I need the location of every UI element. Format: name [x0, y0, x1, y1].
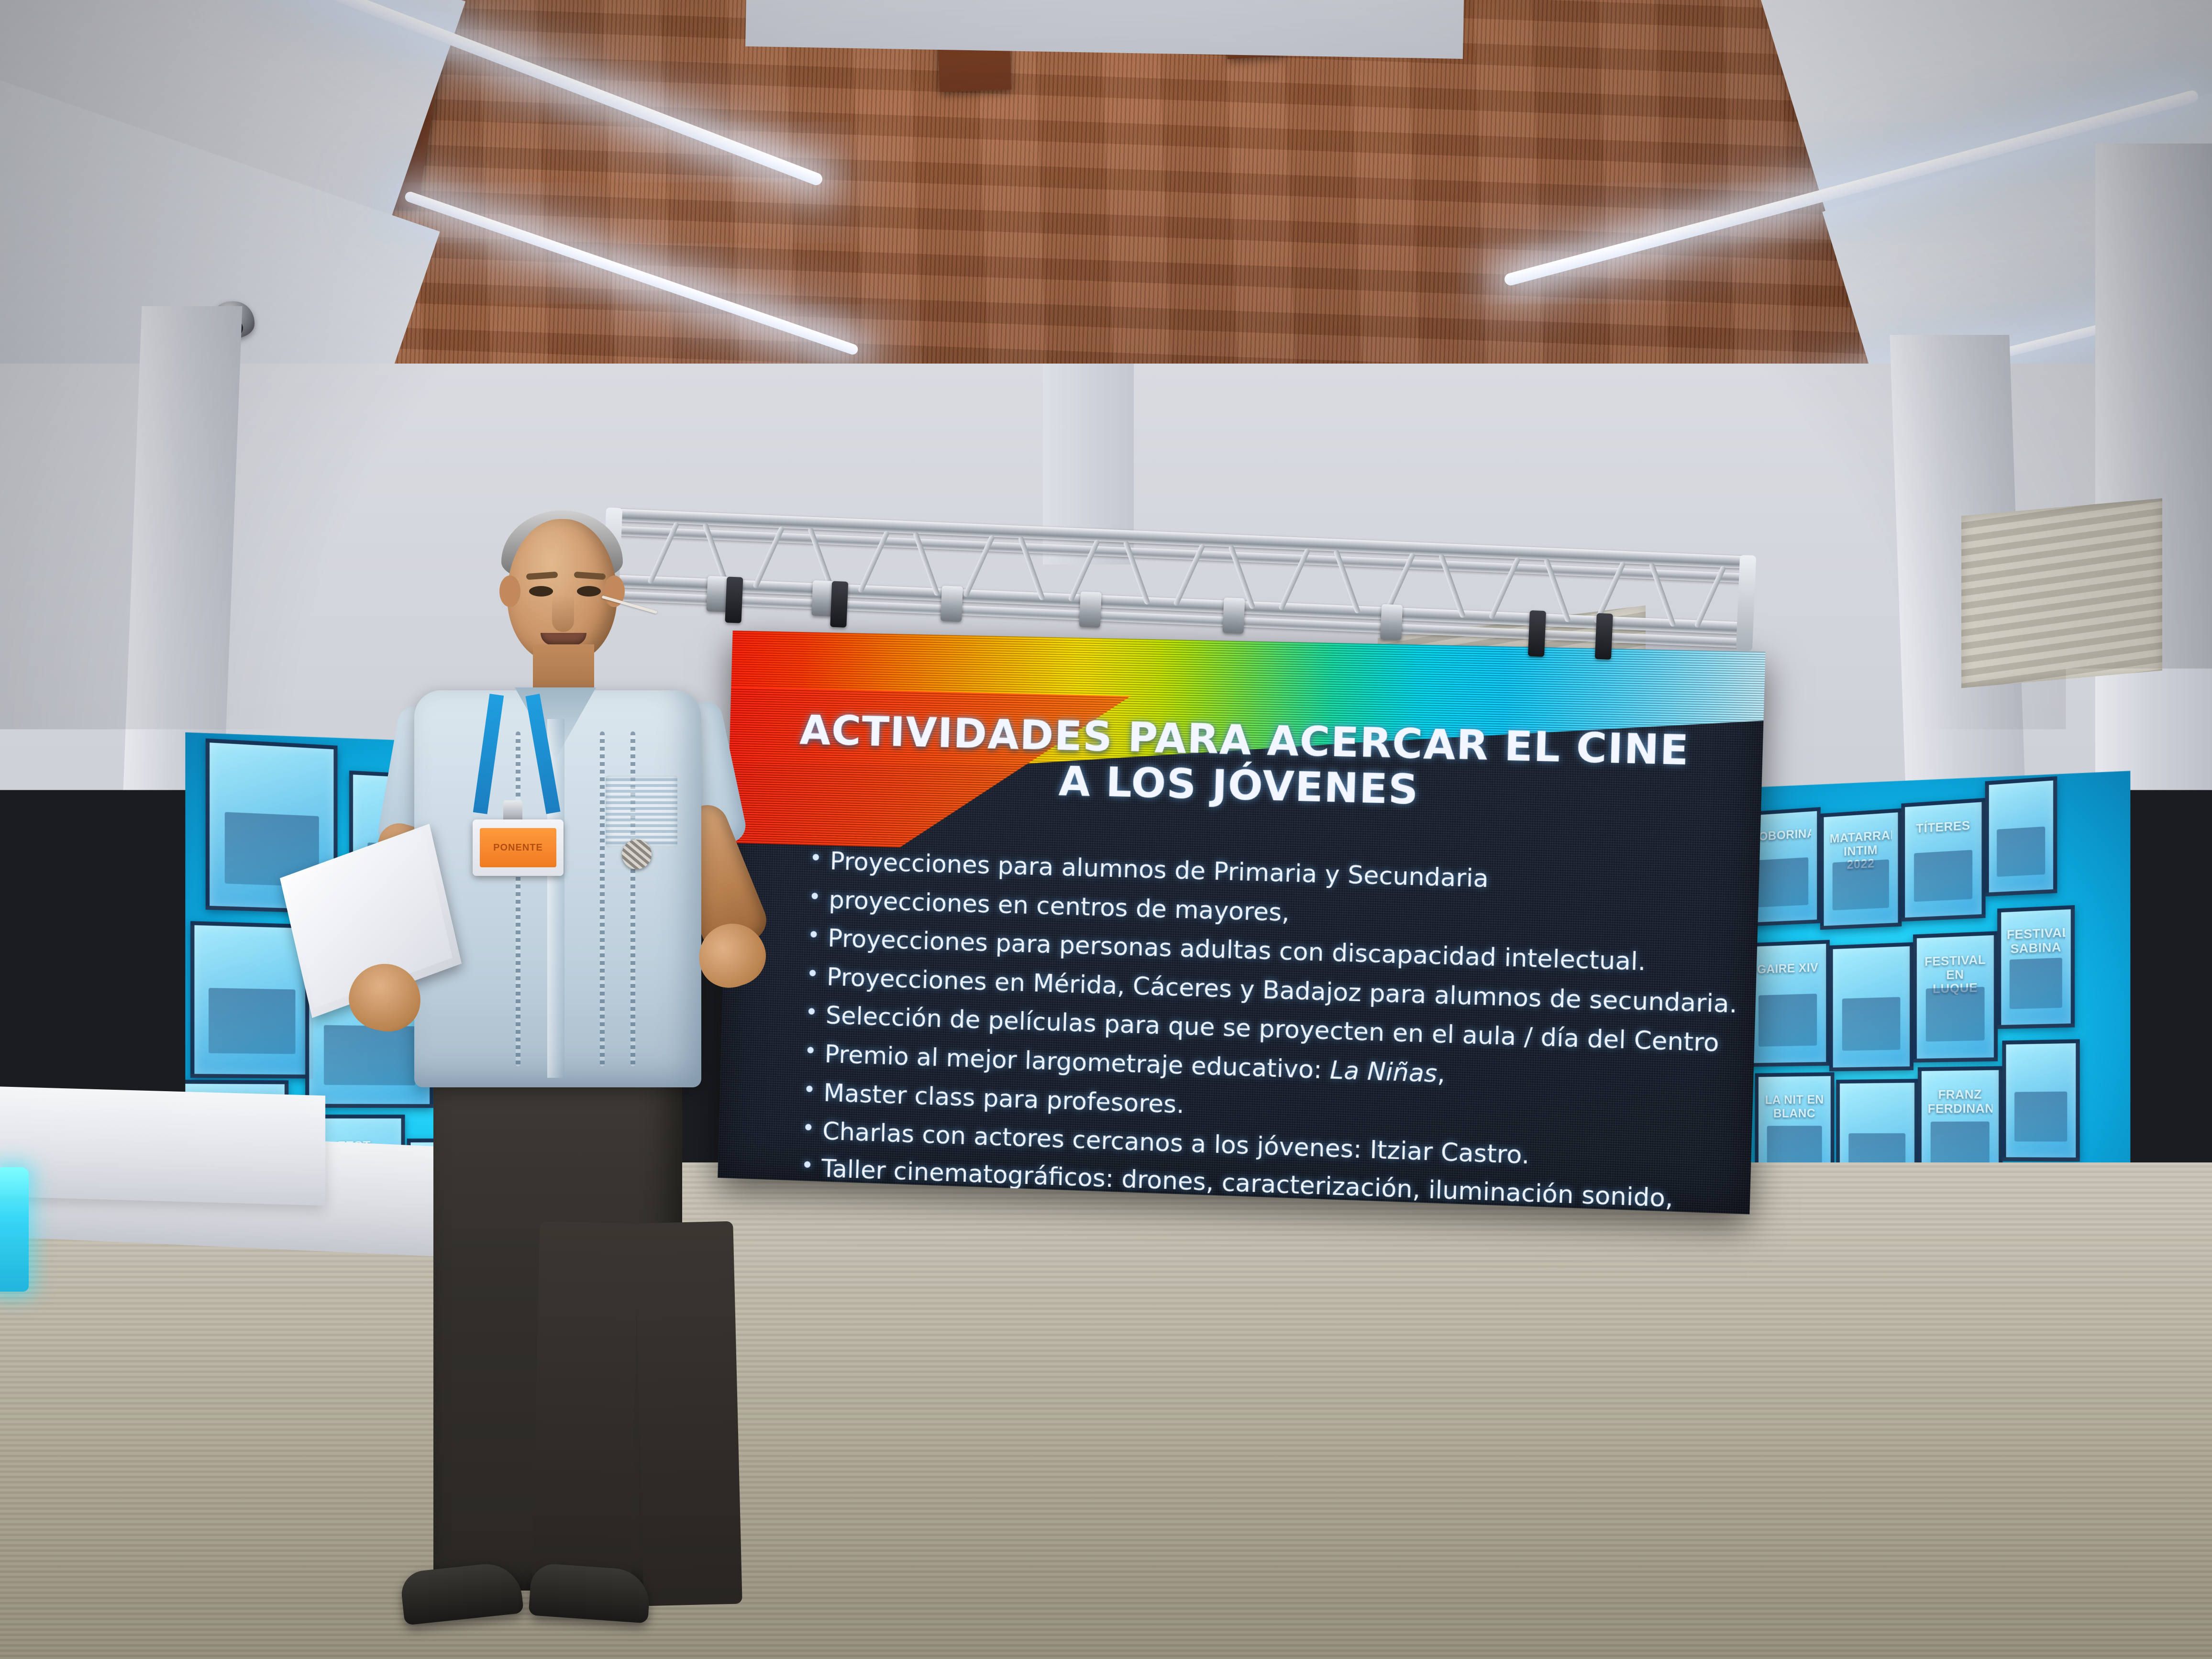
presenter-mouth — [541, 633, 586, 645]
presenter-nose — [552, 595, 574, 632]
truss-clamp — [1380, 604, 1403, 641]
lapel-pin — [622, 840, 652, 869]
framed-poster — [1829, 942, 1913, 1072]
framed-poster — [1985, 776, 2057, 896]
presenter: PONENTE — [335, 519, 756, 1304]
framed-poster: MATARRANYA INTIM 2022 — [1820, 808, 1902, 930]
framed-poster — [2002, 1039, 2079, 1161]
white-bench — [0, 1086, 325, 1206]
truss-clamp — [940, 586, 963, 622]
truss-clamp — [1595, 613, 1613, 660]
water-bottle — [0, 1167, 29, 1292]
name-badge-text: PONENTE — [480, 828, 556, 867]
slide-bullet-text: Premio al mejor largometraje educativo: — [824, 1040, 1330, 1084]
truss-clamp — [1528, 610, 1546, 657]
name-badge: PONENTE — [473, 819, 564, 876]
presenter-eye — [577, 586, 601, 597]
framed-poster: FESTIVAL EN LUQUE — [1913, 931, 1998, 1062]
led-video-wall: ACTIVIDADES PARA ACERCAR EL CINE A LOS J… — [718, 630, 1765, 1214]
air-vent-grille — [1961, 498, 2162, 688]
truss-clamp — [1079, 591, 1102, 628]
shirt-pocket — [606, 775, 677, 847]
slide-bullet-italic-title: La Niñas — [1329, 1056, 1438, 1088]
presenter-eye — [529, 586, 553, 597]
framed-poster — [190, 921, 313, 1078]
presenter-shirt — [414, 690, 701, 1087]
framed-poster: GAIRE XIV — [1746, 940, 1830, 1067]
framed-poster: FESTIVAL SABINA — [1997, 905, 2075, 1029]
truss-clamp — [1222, 597, 1245, 634]
foreground-chair — [364, 1478, 1626, 1659]
framed-poster: TÍTERES — [1901, 798, 1985, 922]
stage-photograph: ROCK PIRINEOS SUR 2023 terFEST DB — [0, 0, 2212, 1659]
presenter-ear — [499, 575, 520, 607]
slide-bullet-list: Proyecciones para alumnos de Primaria y … — [796, 845, 1715, 1214]
truss-clamp — [830, 581, 848, 628]
slide-bullet-tail: , — [1437, 1059, 1445, 1088]
